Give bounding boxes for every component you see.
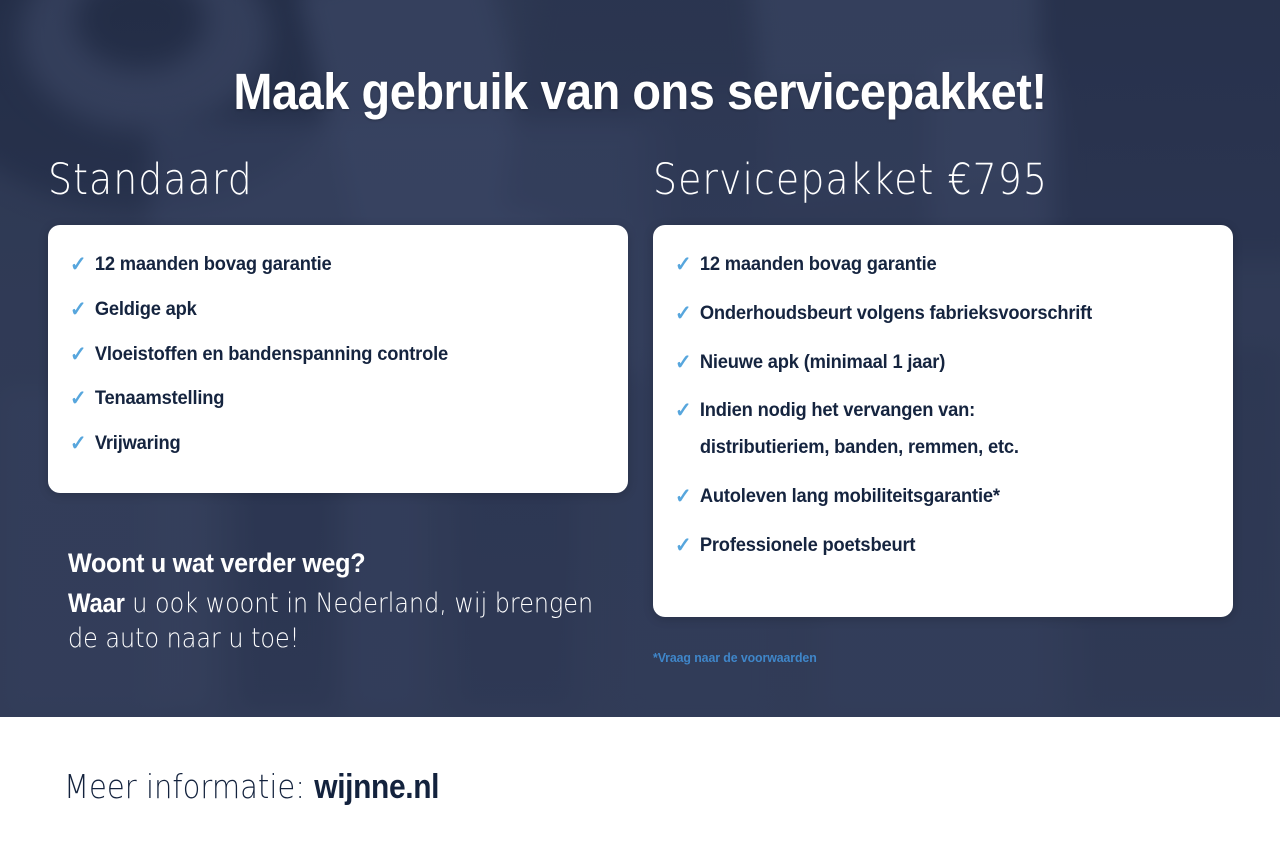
check-icon: ✓ [70,343,86,366]
more-info-label: Meer informatie: [64,767,314,806]
check-icon: ✓ [675,351,691,374]
promo-body: Waar u ook woont in Nederland, wij breng… [68,586,626,657]
list-item: ✓ 12 maanden bovag garantie [675,253,1175,277]
feature-label: Tenaamstelling [95,387,224,411]
check-icon: ✓ [675,534,691,557]
promo-body-rest: u ook woont in Nederland, wij brengen de… [68,588,593,654]
feature-label-group: Indien nodig het vervangen van: distribu… [700,399,1019,460]
feature-label: Vloeistoffen en bandenspanning controle [95,343,448,367]
list-item: ✓ Autoleven lang mobiliteitsgarantie* [675,485,1175,509]
list-item: ✓ Tenaamstelling [70,387,570,411]
list-item: ✓ Geldige apk [70,298,570,322]
check-icon: ✓ [70,253,86,276]
check-icon: ✓ [70,432,86,455]
list-item: ✓ Vrijwaring [70,432,570,456]
list-item: ✓ Onderhoudsbeurt volgens fabrieksvoorsc… [675,302,1175,326]
package-column-standaard: Standaard ✓ 12 maanden bovag garantie ✓ … [48,158,628,493]
list-item: ✓ Professionele poetsbeurt [675,534,1175,558]
feature-label: 12 maanden bovag garantie [95,253,332,277]
list-item: ✓ Vloeistoffen en bandenspanning control… [70,343,570,367]
feature-label: Geldige apk [95,298,197,322]
feature-label: Vrijwaring [95,432,181,456]
service-package-poster: Maak gebruik van ons servicepakket! Stan… [0,0,1280,853]
feature-sublabel: distributieriem, banden, remmen, etc. [700,436,1019,460]
footer-bar: Meer informatie: wijnne.nl AUTOBEDRIJF W… [0,717,1280,853]
feature-label: Onderhoudsbeurt volgens fabrieksvoorschr… [700,302,1092,326]
package-title-servicepakket: Servicepakket €795 [653,158,1163,203]
feature-label: Indien nodig het vervangen van: [700,399,975,421]
check-icon: ✓ [675,253,691,276]
check-icon: ✓ [675,485,691,508]
check-icon: ✓ [675,302,691,325]
list-item: ✓ 12 maanden bovag garantie [70,253,570,277]
delivery-promo: Woont u wat verder weg? Waar u ook woont… [68,548,628,657]
conditions-footnote: *Vraag naar de voorwaarden [653,650,817,665]
feature-label: 12 maanden bovag garantie [700,253,937,277]
package-card-standaard: ✓ 12 maanden bovag garantie ✓ Geldige ap… [48,225,628,493]
check-icon: ✓ [70,387,86,410]
package-title-standaard: Standaard [48,158,558,203]
check-icon: ✓ [675,399,691,422]
feature-list-standaard: ✓ 12 maanden bovag garantie ✓ Geldige ap… [70,253,602,456]
list-item: ✓ Nieuwe apk (minimaal 1 jaar) [675,351,1175,375]
promo-question: Woont u wat verder weg? [68,548,589,579]
list-item: ✓ Indien nodig het vervangen van: distri… [675,399,1175,460]
feature-label: Professionele poetsbeurt [700,534,916,558]
feature-list-servicepakket: ✓ 12 maanden bovag garantie ✓ Onderhouds… [675,253,1207,557]
package-card-servicepakket: ✓ 12 maanden bovag garantie ✓ Onderhouds… [653,225,1233,617]
more-info-text: Meer informatie: wijnne.nl [64,767,439,807]
feature-label: Nieuwe apk (minimaal 1 jaar) [700,351,945,375]
check-icon: ✓ [70,298,86,321]
feature-label: Autoleven lang mobiliteitsgarantie* [700,485,1000,509]
page-title: Maak gebruik van ons servicepakket! [51,62,1229,121]
promo-body-bold: Waar [68,588,125,618]
package-column-servicepakket: Servicepakket €795 ✓ 12 maanden bovag ga… [653,158,1233,617]
website-link[interactable]: wijnne.nl [314,768,439,806]
